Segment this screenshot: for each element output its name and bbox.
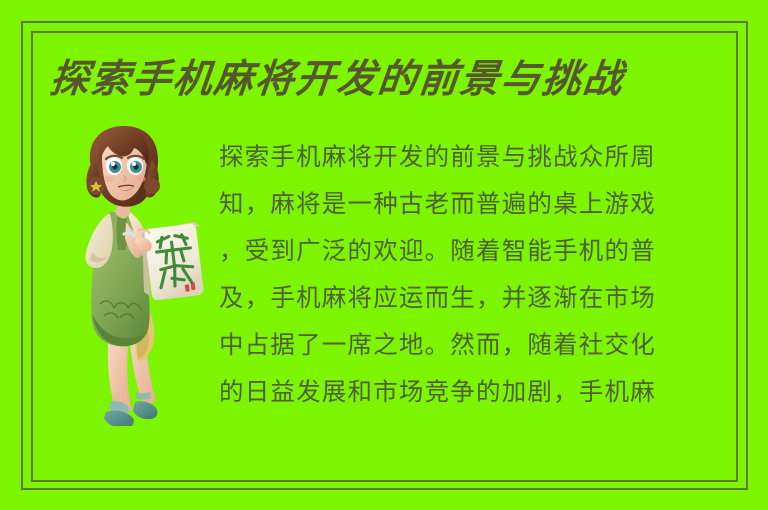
article-body: 探索手机麻将开发的前景与挑战众所周 知，麻将是一种古老而普遍的桌上游戏 ，受到广… bbox=[219, 133, 743, 415]
article-line: 探索手机麻将开发的前景与挑战众所周 bbox=[219, 133, 743, 180]
poster-canvas: 探索手机麻将开发的前景与挑战 bbox=[0, 0, 768, 510]
article-line: 及，手机麻将应运而生，并逐渐在市场 bbox=[219, 274, 743, 321]
mahjong-girl-illustration bbox=[52, 126, 212, 426]
article-line: 的日益发展和市场竞争的加剧，手机麻 bbox=[219, 368, 743, 415]
article-line: ，受到广泛的欢迎。随着智能手机的普 bbox=[219, 227, 743, 274]
page-title: 探索手机麻将开发的前景与挑战 bbox=[48, 60, 626, 99]
mahjong-tile bbox=[142, 222, 204, 301]
head bbox=[86, 126, 160, 217]
article-line: 中占据了一席之地。然而，随着社交化 bbox=[219, 321, 743, 368]
article-line: 知，麻将是一种古老而普遍的桌上游戏 bbox=[219, 180, 743, 227]
